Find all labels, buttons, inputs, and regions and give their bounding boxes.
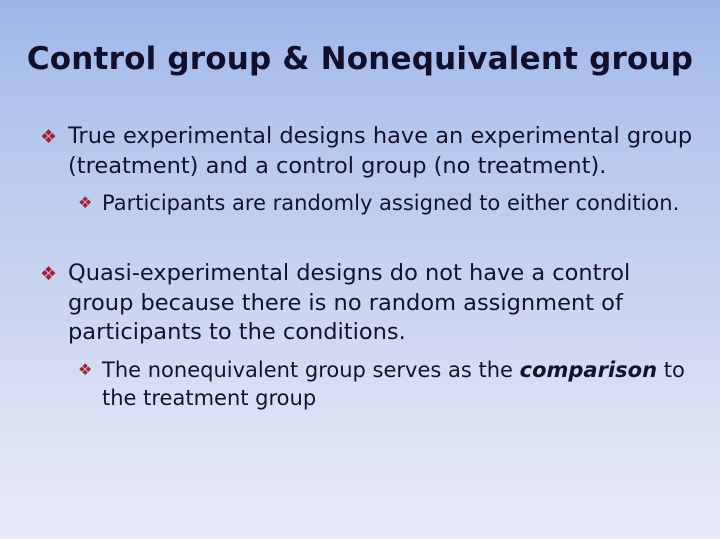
bullet-marker-icon: ❖ — [78, 362, 92, 378]
bullet-marker-icon: ❖ — [78, 195, 92, 211]
page-title: Control group & Nonequivalent group — [0, 42, 720, 76]
presentation-slide: Control group & Nonequivalent group ❖ Tr… — [0, 0, 720, 539]
emphasized-term: comparison — [520, 358, 657, 382]
bullet-item-level1-2: ❖ Quasi-experimental designs do not have… — [0, 259, 720, 348]
bullet-text: Participants are randomly assigned to ei… — [102, 191, 679, 215]
bullet-item-level1-1: ❖ True experimental designs have an expe… — [0, 122, 720, 181]
slide-body: ❖ True experimental designs have an expe… — [0, 122, 720, 412]
bullet-text-before-emphasis: The nonequivalent group serves as the — [102, 358, 520, 382]
bullet-text: Quasi-experimental designs do not have a… — [68, 260, 630, 345]
bullet-text: True experimental designs have an experi… — [68, 123, 692, 179]
bullet-item-level2-2: ❖ The nonequivalent group serves as the … — [0, 356, 720, 412]
spacer — [0, 348, 720, 356]
bullet-marker-icon: ❖ — [40, 128, 57, 147]
bullet-marker-icon: ❖ — [40, 265, 57, 284]
bullet-item-level2-1: ❖ Participants are randomly assigned to … — [0, 189, 720, 217]
spacer — [0, 181, 720, 189]
spacer — [0, 217, 720, 259]
